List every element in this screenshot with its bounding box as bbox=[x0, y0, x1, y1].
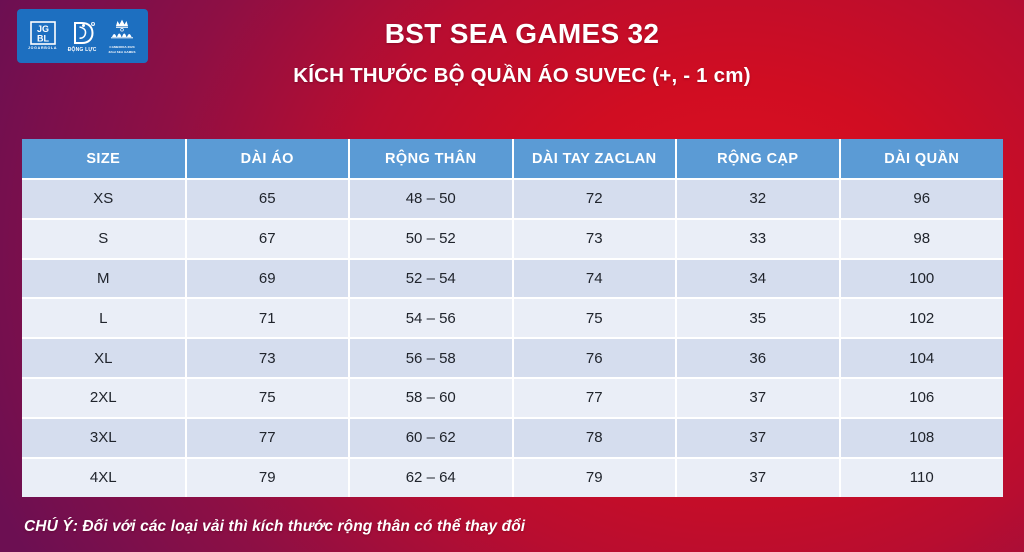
measurement-cell: 58 – 60 bbox=[349, 378, 513, 418]
measurement-cell: 36 bbox=[676, 338, 840, 378]
measurement-cell: 100 bbox=[840, 259, 1004, 299]
measurement-cell: 56 – 58 bbox=[349, 338, 513, 378]
size-cell: XS bbox=[22, 179, 186, 219]
measurement-cell: 71 bbox=[186, 298, 350, 338]
measurement-cell: 102 bbox=[840, 298, 1004, 338]
column-header-5: DÀI QUẦN bbox=[840, 139, 1004, 179]
column-header-3: DÀI TAY ZACLAN bbox=[513, 139, 677, 179]
measurement-cell: 34 bbox=[676, 259, 840, 299]
size-cell: 2XL bbox=[22, 378, 186, 418]
measurement-cell: 79 bbox=[186, 458, 350, 498]
table-row: L7154 – 567535102 bbox=[22, 298, 1003, 338]
measurement-cell: 106 bbox=[840, 378, 1004, 418]
measurement-cell: 35 bbox=[676, 298, 840, 338]
measurement-cell: 69 bbox=[186, 259, 350, 299]
size-cell: M bbox=[22, 259, 186, 299]
footnote: CHÚ Ý: Đối với các loại vải thì kích thư… bbox=[24, 518, 525, 536]
measurement-cell: 60 – 62 bbox=[349, 418, 513, 458]
table-row: 3XL7760 – 627837108 bbox=[22, 418, 1003, 458]
measurement-cell: 78 bbox=[513, 418, 677, 458]
table-header-row: SIZEDÀI ÁORỘNG THÂNDÀI TAY ZACLANRỘNG CẠ… bbox=[22, 139, 1003, 179]
measurement-cell: 108 bbox=[840, 418, 1004, 458]
size-cell: 3XL bbox=[22, 418, 186, 458]
measurement-cell: 37 bbox=[676, 458, 840, 498]
measurement-cell: 77 bbox=[186, 418, 350, 458]
table-row: 4XL7962 – 647937110 bbox=[22, 458, 1003, 498]
measurement-cell: 74 bbox=[513, 259, 677, 299]
measurement-cell: 33 bbox=[676, 219, 840, 259]
column-header-2: RỘNG THÂN bbox=[349, 139, 513, 179]
measurement-cell: 98 bbox=[840, 219, 1004, 259]
table-body: XS6548 – 50723296S6750 – 52733398M6952 –… bbox=[22, 179, 1003, 497]
column-header-1: DÀI ÁO bbox=[186, 139, 350, 179]
measurement-cell: 75 bbox=[186, 378, 350, 418]
measurement-cell: 76 bbox=[513, 338, 677, 378]
table-row: XL7356 – 587636104 bbox=[22, 338, 1003, 378]
page-header: JG BL JOGARBOLA R ĐỘNG LỰC bbox=[0, 0, 1024, 122]
measurement-cell: 77 bbox=[513, 378, 677, 418]
measurement-cell: 73 bbox=[186, 338, 350, 378]
measurement-cell: 50 – 52 bbox=[349, 219, 513, 259]
measurement-cell: 67 bbox=[186, 219, 350, 259]
table-row: XS6548 – 50723296 bbox=[22, 179, 1003, 219]
measurement-cell: 79 bbox=[513, 458, 677, 498]
column-header-4: RỘNG CẠP bbox=[676, 139, 840, 179]
measurement-cell: 54 – 56 bbox=[349, 298, 513, 338]
measurement-cell: 110 bbox=[840, 458, 1004, 498]
column-header-0: SIZE bbox=[22, 139, 186, 179]
measurement-cell: 52 – 54 bbox=[349, 259, 513, 299]
page-subtitle: KÍCH THƯỚC BỘ QUẦN ÁO SUVEC (+, - 1 cm) bbox=[20, 64, 1024, 88]
size-cell: S bbox=[22, 219, 186, 259]
table-row: S6750 – 52733398 bbox=[22, 219, 1003, 259]
size-chart-table: SIZEDÀI ÁORỘNG THÂNDÀI TAY ZACLANRỘNG CẠ… bbox=[22, 139, 1003, 497]
measurement-cell: 37 bbox=[676, 378, 840, 418]
size-cell: 4XL bbox=[22, 458, 186, 498]
measurement-cell: 73 bbox=[513, 219, 677, 259]
table-header: SIZEDÀI ÁORỘNG THÂNDÀI TAY ZACLANRỘNG CẠ… bbox=[22, 139, 1003, 179]
measurement-cell: 75 bbox=[513, 298, 677, 338]
page-title: BST SEA GAMES 32 bbox=[20, 18, 1024, 50]
measurement-cell: 65 bbox=[186, 179, 350, 219]
table-row: 2XL7558 – 607737106 bbox=[22, 378, 1003, 418]
measurement-cell: 48 – 50 bbox=[349, 179, 513, 219]
size-cell: L bbox=[22, 298, 186, 338]
measurement-cell: 72 bbox=[513, 179, 677, 219]
measurement-cell: 62 – 64 bbox=[349, 458, 513, 498]
measurement-cell: 37 bbox=[676, 418, 840, 458]
size-cell: XL bbox=[22, 338, 186, 378]
measurement-cell: 96 bbox=[840, 179, 1004, 219]
measurement-cell: 104 bbox=[840, 338, 1004, 378]
size-chart-container: SIZEDÀI ÁORỘNG THÂNDÀI TAY ZACLANRỘNG CẠ… bbox=[22, 139, 1003, 497]
table-row: M6952 – 547434100 bbox=[22, 259, 1003, 299]
measurement-cell: 32 bbox=[676, 179, 840, 219]
title-block: BST SEA GAMES 32 KÍCH THƯỚC BỘ QUẦN ÁO S… bbox=[0, 18, 1024, 88]
